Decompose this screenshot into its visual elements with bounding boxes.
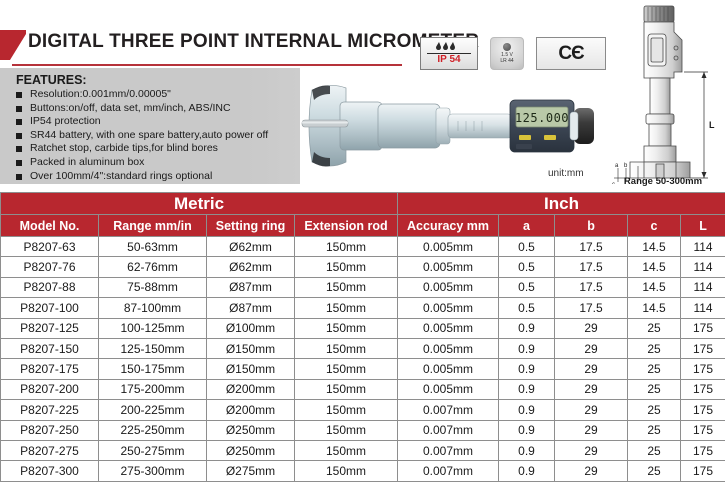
cell-range: 225-250mm — [99, 420, 207, 440]
cell-l: 175 — [681, 440, 725, 460]
technical-drawing: L a b c — [604, 2, 722, 184]
feature-item: SR44 battery, with one spare battery,aut… — [16, 129, 300, 143]
cell-l: 114 — [681, 257, 725, 277]
square-bullet-icon — [16, 119, 22, 125]
cell-l: 175 — [681, 379, 725, 399]
cell-c: 25 — [628, 400, 681, 420]
column-header-range: Range mm/in — [99, 215, 207, 237]
cell-range: 200-225mm — [99, 400, 207, 420]
specifications-table: Metric Inch Model No. Range mm/in Settin… — [0, 192, 725, 482]
cell-extension-rod: 150mm — [295, 237, 398, 257]
cell-l: 175 — [681, 400, 725, 420]
cell-b: 29 — [555, 338, 628, 358]
cell-c: 25 — [628, 338, 681, 358]
table-row: P8207-8875-88mmØ87mm150mm0.005mm0.517.51… — [1, 277, 725, 297]
battery-type-label: LR 44 — [500, 59, 513, 65]
feature-text: Resolution:0.001mm/0.00005" — [30, 88, 171, 100]
cell-b: 17.5 — [555, 298, 628, 318]
cell-model-no: P8207-250 — [1, 420, 99, 440]
cell-setting-ring: Ø250mm — [207, 420, 295, 440]
cell-b: 29 — [555, 318, 628, 338]
feature-text: Over 100mm/4":standard rings optional — [30, 170, 212, 182]
feature-item: Over 100mm/4":standard rings optional — [16, 170, 300, 184]
cell-l: 175 — [681, 420, 725, 440]
dimension-a-label: a — [615, 163, 619, 169]
cell-a: 0.5 — [499, 257, 555, 277]
table-row: P8207-175150-175mmØ150mm150mm0.005mm0.92… — [1, 359, 725, 379]
product-spec-sheet: DIGITAL THREE POINT INTERNAL MICROMETER … — [0, 0, 725, 471]
cell-range: 125-150mm — [99, 338, 207, 358]
page-title: DIGITAL THREE POINT INTERNAL MICROMETER — [28, 31, 479, 53]
cell-extension-rod: 150mm — [295, 440, 398, 460]
cell-accuracy: 0.005mm — [398, 237, 499, 257]
cell-model-no: P8207-175 — [1, 359, 99, 379]
feature-text: Packed in aluminum box — [30, 156, 144, 168]
features-list: Resolution:0.001mm/0.00005" Buttons:on/o… — [16, 88, 300, 183]
cell-b: 29 — [555, 359, 628, 379]
feature-text: SR44 battery, with one spare battery,aut… — [30, 129, 268, 141]
cell-accuracy: 0.005mm — [398, 338, 499, 358]
cell-a: 0.9 — [499, 338, 555, 358]
features-panel: FEATURES: Resolution:0.001mm/0.00005" Bu… — [0, 68, 300, 184]
cell-range: 87-100mm — [99, 298, 207, 318]
cell-b: 29 — [555, 400, 628, 420]
feature-text: IP54 protection — [30, 115, 101, 127]
cell-c: 25 — [628, 359, 681, 379]
cell-accuracy: 0.005mm — [398, 379, 499, 399]
feature-item: Ratchet stop, carbide tips,for blind bor… — [16, 142, 300, 156]
cell-setting-ring: Ø200mm — [207, 379, 295, 399]
cell-model-no: P8207-63 — [1, 237, 99, 257]
product-photo: 125.000 — [300, 74, 600, 178]
group-header-inch: Inch — [398, 193, 725, 215]
table-body: P8207-6350-63mmØ62mm150mm0.005mm0.517.51… — [1, 237, 725, 482]
cell-l: 114 — [681, 237, 725, 257]
cell-accuracy: 0.007mm — [398, 400, 499, 420]
feature-item: Resolution:0.001mm/0.00005" — [16, 88, 300, 102]
cell-model-no: P8207-200 — [1, 379, 99, 399]
cell-extension-rod: 150mm — [295, 277, 398, 297]
column-header-c: c — [628, 215, 681, 237]
water-drops-icon — [436, 42, 462, 52]
cell-range: 75-88mm — [99, 277, 207, 297]
certification-badges: IP 54 1.5 V LR 44 CЄ — [420, 37, 606, 70]
cell-a: 0.5 — [499, 277, 555, 297]
cell-extension-rod: 150mm — [295, 420, 398, 440]
feature-text: Ratchet stop, carbide tips,for blind bor… — [30, 142, 218, 154]
cell-model-no: P8207-275 — [1, 440, 99, 460]
table-column-header-row: Model No. Range mm/in Setting ring Exten… — [1, 215, 725, 237]
cell-a: 0.5 — [499, 298, 555, 318]
table-row: P8207-150125-150mmØ150mm150mm0.005mm0.92… — [1, 338, 725, 358]
cell-c: 14.5 — [628, 237, 681, 257]
cell-extension-rod: 150mm — [295, 359, 398, 379]
cell-l: 114 — [681, 277, 725, 297]
drawing-caption: Range 50-300mm — [604, 176, 722, 187]
table-row: P8207-6350-63mmØ62mm150mm0.005mm0.517.51… — [1, 237, 725, 257]
feature-item: Packed in aluminum box — [16, 156, 300, 170]
unit-label: unit:mm — [548, 168, 584, 179]
cell-a: 0.9 — [499, 379, 555, 399]
cell-a: 0.9 — [499, 440, 555, 460]
cell-a: 0.9 — [499, 420, 555, 440]
cell-extension-rod: 150mm — [295, 338, 398, 358]
features-heading: FEATURES: — [16, 73, 300, 87]
cell-model-no: P8207-100 — [1, 298, 99, 318]
cell-b: 17.5 — [555, 237, 628, 257]
cell-accuracy: 0.005mm — [398, 359, 499, 379]
cell-extension-rod: 150mm — [295, 400, 398, 420]
feature-item: Buttons:on/off, data set, mm/inch, ABS/I… — [16, 102, 300, 116]
column-header-b: b — [555, 215, 628, 237]
ce-mark-badge: CЄ — [536, 37, 606, 70]
table-group-header-row: Metric Inch — [1, 193, 725, 215]
cell-a: 0.9 — [499, 359, 555, 379]
cell-model-no: P8207-225 — [1, 400, 99, 420]
cell-c: 14.5 — [628, 277, 681, 297]
cell-model-no: P8207-150 — [1, 338, 99, 358]
dimension-L-label: L — [709, 120, 715, 130]
cell-setting-ring: Ø150mm — [207, 338, 295, 358]
cell-l: 175 — [681, 359, 725, 379]
cell-extension-rod: 150mm — [295, 298, 398, 318]
cell-range: 150-175mm — [99, 359, 207, 379]
cell-a: 0.9 — [499, 318, 555, 338]
cell-setting-ring: Ø62mm — [207, 257, 295, 277]
table-row: P8207-125100-125mmØ100mm150mm0.005mm0.92… — [1, 318, 725, 338]
title-divider — [12, 64, 402, 66]
table-row: P8207-200175-200mmØ200mm150mm0.005mm0.92… — [1, 379, 725, 399]
cell-a: 0.5 — [499, 237, 555, 257]
cell-setting-ring: Ø87mm — [207, 277, 295, 297]
cell-model-no: P8207-88 — [1, 277, 99, 297]
table-row: P8207-7662-76mmØ62mm150mm0.005mm0.517.51… — [1, 257, 725, 277]
square-bullet-icon — [16, 92, 22, 98]
cell-accuracy: 0.005mm — [398, 298, 499, 318]
ip-rating-label: IP 54 — [437, 55, 460, 65]
cell-setting-ring: Ø250mm — [207, 440, 295, 460]
square-bullet-icon — [16, 106, 22, 112]
cell-c: 25 — [628, 379, 681, 399]
cell-model-no: P8207-125 — [1, 318, 99, 338]
cell-c: 25 — [628, 420, 681, 440]
cell-model-no: P8207-76 — [1, 257, 99, 277]
cell-a: 0.9 — [499, 400, 555, 420]
lcd-reading: 125.000 — [515, 111, 569, 125]
feature-item: IP54 protection — [16, 115, 300, 129]
feature-text: Buttons:on/off, data set, mm/inch, ABS/I… — [30, 102, 231, 114]
table-row: P8207-225200-225mmØ200mm150mm0.007mm0.92… — [1, 400, 725, 420]
cell-range: 250-275mm — [99, 440, 207, 460]
cell-setting-ring: Ø100mm — [207, 318, 295, 338]
cell-accuracy: 0.007mm — [398, 440, 499, 460]
cell-setting-ring: Ø200mm — [207, 400, 295, 420]
battery-badge: 1.5 V LR 44 — [490, 37, 524, 70]
column-header-accuracy: Accuracy mm — [398, 215, 499, 237]
ce-mark-label: CЄ — [558, 43, 583, 65]
table-row: P8207-10087-100mmØ87mm150mm0.005mm0.517.… — [1, 298, 725, 318]
cell-accuracy: 0.005mm — [398, 318, 499, 338]
column-header-setting-ring: Setting ring — [207, 215, 295, 237]
column-header-model-no: Model No. — [1, 215, 99, 237]
cell-setting-ring: Ø87mm — [207, 298, 295, 318]
cell-l: 175 — [681, 318, 725, 338]
cell-b: 29 — [555, 379, 628, 399]
cell-c: 25 — [628, 440, 681, 460]
cell-range: 100-125mm — [99, 318, 207, 338]
cell-l: 114 — [681, 298, 725, 318]
cell-setting-ring: Ø150mm — [207, 359, 295, 379]
table-row: P8207-250225-250mmØ250mm150mm0.007mm0.92… — [1, 420, 725, 440]
cell-c: 14.5 — [628, 257, 681, 277]
cell-c: 14.5 — [628, 298, 681, 318]
group-header-metric: Metric — [1, 193, 398, 215]
square-bullet-icon — [16, 174, 22, 180]
cell-extension-rod: 150mm — [295, 318, 398, 338]
column-header-extension-rod: Extension rod — [295, 215, 398, 237]
cell-range: 50-63mm — [99, 237, 207, 257]
cell-b: 17.5 — [555, 277, 628, 297]
cell-accuracy: 0.005mm — [398, 257, 499, 277]
cell-range: 62-76mm — [99, 257, 207, 277]
square-bullet-icon — [16, 133, 22, 139]
cell-setting-ring: Ø62mm — [207, 237, 295, 257]
ip-rating-badge: IP 54 — [420, 37, 478, 70]
cell-extension-rod: 150mm — [295, 257, 398, 277]
cell-accuracy: 0.005mm — [398, 277, 499, 297]
battery-cell-icon — [503, 43, 511, 51]
square-bullet-icon — [16, 146, 22, 152]
cell-extension-rod: 150mm — [295, 379, 398, 399]
cell-b: 29 — [555, 420, 628, 440]
cell-c: 25 — [628, 318, 681, 338]
dimension-b-label: b — [624, 163, 628, 169]
column-header-a: a — [499, 215, 555, 237]
red-flag-icon — [0, 30, 28, 60]
cell-accuracy: 0.007mm — [398, 420, 499, 440]
cell-l: 175 — [681, 338, 725, 358]
cell-range: 175-200mm — [99, 379, 207, 399]
cell-b: 29 — [555, 440, 628, 460]
cell-b: 17.5 — [555, 257, 628, 277]
column-header-l: L — [681, 215, 725, 237]
table-row: P8207-275250-275mmØ250mm150mm0.007mm0.92… — [1, 440, 725, 460]
square-bullet-icon — [16, 160, 22, 166]
